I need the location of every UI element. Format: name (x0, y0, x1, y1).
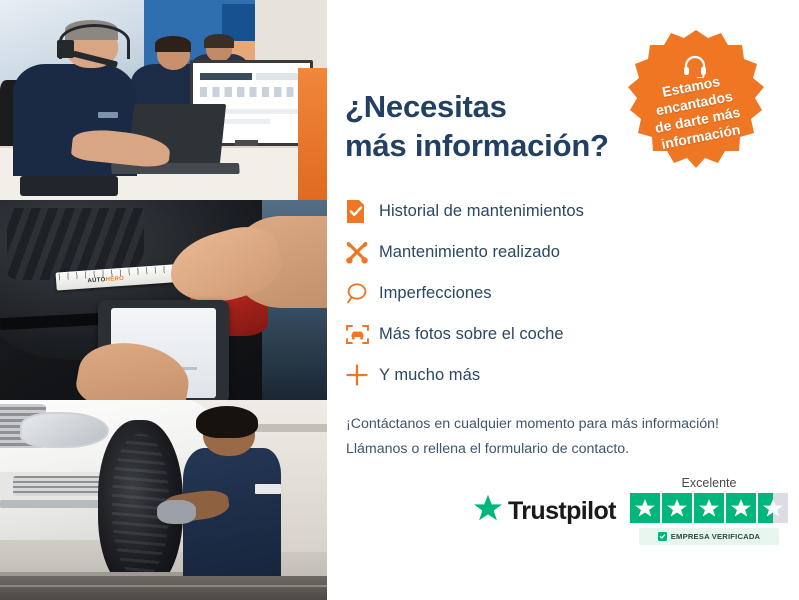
agent-two-hair (155, 36, 191, 52)
ruler-brand-text-primary: AUTO (87, 277, 105, 284)
list-item-label: Imperfecciones (379, 284, 492, 303)
verified-company-badge: EMPRESA VERIFICADA (639, 528, 779, 545)
car-inspection-ruler-photo: AUTOHERO (0, 200, 327, 400)
mechanic-uniform-logo (255, 484, 281, 494)
promo-badge: Estamos encantados de darte más informac… (622, 28, 770, 176)
feature-list: Historial de mantenimientos Mantenimient… (345, 192, 745, 397)
verified-label: EMPRESA VERIFICADA (671, 532, 760, 541)
mechanic-hair (196, 406, 258, 438)
star-filled (694, 493, 724, 523)
star-filled (726, 493, 756, 523)
information-banner: AUTOHERO (0, 0, 799, 600)
list-item-label: Y mucho más (379, 366, 480, 385)
magnifier-icon (345, 278, 379, 308)
rating-label: Excelente (623, 476, 795, 490)
plus-icon (345, 360, 379, 390)
trustpilot-wordmark: Trustpilot (508, 497, 616, 526)
agent-one-polo-logo (98, 112, 118, 118)
tools-cross-icon (345, 237, 379, 267)
mechanic-wheel-service-photo (0, 400, 327, 600)
star-half (758, 493, 788, 523)
headline-line-2: más información? (345, 126, 625, 165)
list-item: Y mucho más (345, 356, 745, 394)
contact-line-1: ¡Contáctanos en cualquier momento para m… (346, 412, 776, 437)
check-badge-icon (658, 532, 667, 541)
contact-line-2: Llámanos o rellena el formulario de cont… (346, 437, 776, 462)
trustpilot-widget[interactable]: Trustpilot Excelente (473, 476, 793, 550)
trustpilot-star-icon (473, 494, 503, 528)
list-item: Historial de mantenimientos (345, 192, 745, 230)
star-filled (630, 493, 660, 523)
photo-collage: AUTOHERO (0, 0, 327, 600)
orange-equipment (298, 68, 327, 200)
list-item: Más fotos sobre el coche (345, 315, 745, 353)
headset-icon (682, 54, 708, 78)
car-headlight (20, 412, 109, 448)
document-check-icon (345, 196, 379, 226)
page-title: ¿Necesitas más información? (345, 87, 625, 165)
list-item-label: Mantenimiento realizado (379, 243, 560, 262)
headline-line-1: ¿Necesitas (345, 89, 507, 124)
agent-one-headset-earcup (57, 40, 73, 58)
list-item-label: Historial de mantenimientos (379, 202, 584, 221)
car-photo-frame-icon (345, 319, 379, 349)
star-filled (662, 493, 692, 523)
trustpilot-logo[interactable]: Trustpilot (473, 494, 616, 528)
list-item-label: Más fotos sobre el coche (379, 325, 564, 344)
mechanic-glove (157, 500, 196, 524)
tool-cabinet (0, 576, 327, 600)
trustpilot-rating[interactable]: Excelente (623, 476, 795, 545)
agent-three-hair (204, 34, 233, 48)
car-air-vent (13, 476, 111, 496)
ruler-brand-text-secondary: HERO (105, 276, 124, 283)
call-center-agents-photo (0, 0, 327, 200)
list-item: Imperfecciones (345, 274, 745, 312)
desk-tablet (20, 176, 118, 196)
star-rating (623, 493, 795, 523)
contact-copy: ¡Contáctanos en cualquier momento para m… (346, 412, 776, 463)
content-panel: ¿Necesitas más información? Estamos enca… (327, 0, 799, 600)
list-item: Mantenimiento realizado (345, 233, 745, 271)
